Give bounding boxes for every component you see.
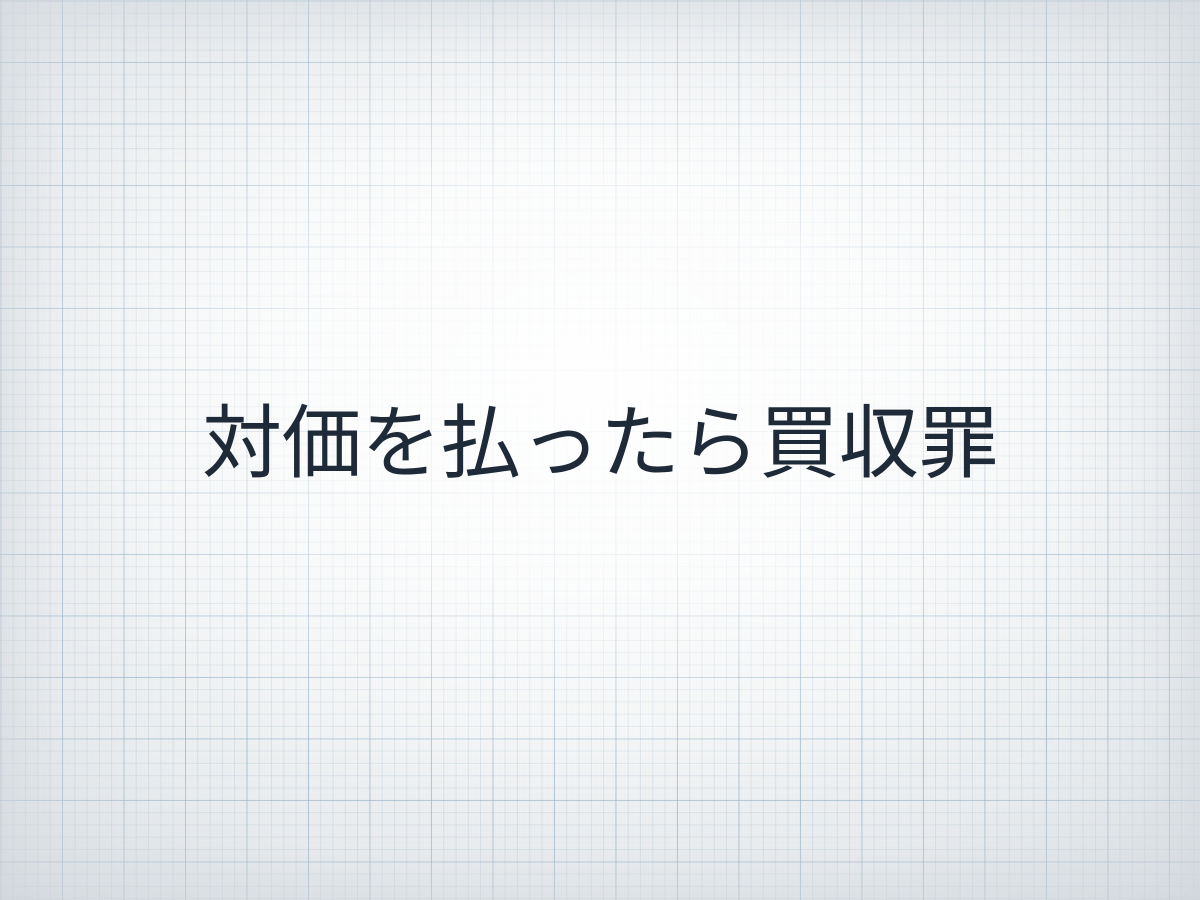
slide-canvas: 対価を払ったら買収罪 — [0, 0, 1200, 900]
slide-headline: 対価を払ったら買収罪 — [202, 402, 998, 486]
headline-container: 対価を払ったら買収罪 — [0, 0, 1200, 900]
